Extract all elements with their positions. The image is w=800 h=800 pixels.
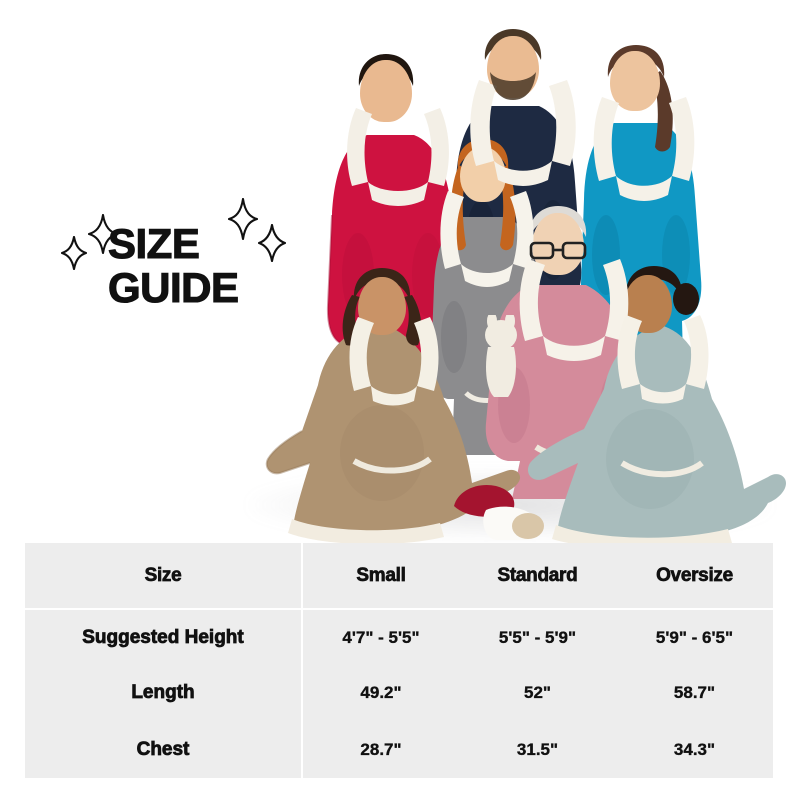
size-guide-page: SIZE GUIDE: [0, 0, 800, 800]
cell-suggested-height-oversize: 5'9" - 6'5": [616, 609, 773, 665]
sparkle-left-lower-icon: [61, 236, 87, 270]
sparkle-right-upper-icon: [228, 198, 258, 240]
row-label-chest: Chest: [25, 722, 302, 778]
tan-hoodie-fur-trim: [338, 307, 448, 407]
cell-length-oversize: 58.7": [616, 665, 773, 721]
foot-sock: [478, 500, 548, 543]
cell-suggested-height-small: 4'7" - 5'5": [302, 609, 459, 665]
row-label-suggested-height: Suggested Height: [25, 609, 302, 665]
table-head: Size Small Standard Oversize: [25, 543, 773, 609]
th-standard: Standard: [459, 543, 616, 609]
cell-length-standard: 52": [459, 665, 616, 721]
size-table-element: Size Small Standard Oversize Suggested H…: [25, 543, 773, 778]
sage-hoodie-fur-trim: [606, 305, 718, 405]
cell-chest-oversize: 34.3": [616, 722, 773, 778]
cell-chest-small: 28.7": [302, 722, 459, 778]
cell-chest-standard: 31.5": [459, 722, 616, 778]
size-guide-table: Size Small Standard Oversize Suggested H…: [25, 543, 773, 778]
table-header-row: Size Small Standard Oversize: [25, 543, 773, 609]
table-body: Suggested Height 4'7" - 5'5" 5'5" - 5'9"…: [25, 609, 773, 778]
navy-hoodie-beard: [486, 68, 540, 102]
teal-hoodie-fur-trim: [586, 83, 702, 205]
sparkle-left-upper-icon: [88, 214, 118, 254]
table-row-chest: Chest 28.7" 31.5" 34.3": [25, 722, 773, 778]
hero-photo: SIZE GUIDE: [0, 0, 800, 543]
th-small: Small: [302, 543, 459, 609]
row-label-length: Length: [25, 665, 302, 721]
table-row-suggested-height: Suggested Height 4'7" - 5'5" 5'5" - 5'9"…: [25, 609, 773, 665]
th-oversize: Oversize: [616, 543, 773, 609]
cell-length-small: 49.2": [302, 665, 459, 721]
table-row-length: Length 49.2" 52" 58.7": [25, 665, 773, 721]
sparkle-right-lower-icon: [258, 224, 286, 262]
glasses-icon: [528, 239, 588, 261]
th-size: Size: [25, 543, 302, 609]
cell-suggested-height-standard: 5'5" - 5'9": [459, 609, 616, 665]
plush-toy: [474, 315, 528, 401]
